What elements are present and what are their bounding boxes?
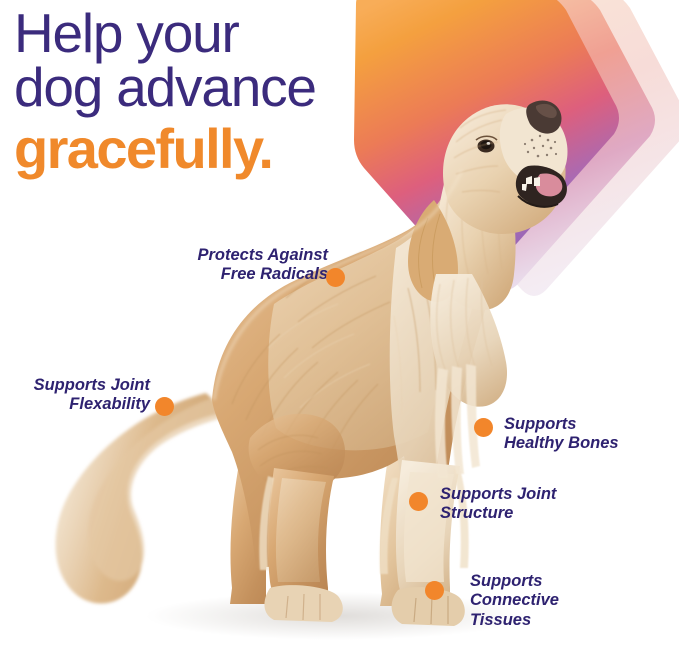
headline: Help your dog advance gracefully.	[14, 6, 444, 177]
headline-accent: gracefully.	[14, 121, 444, 177]
callout-free-radicals: Protects Against Free Radicals	[116, 246, 328, 285]
callout-label: Supports Joint Flexability	[0, 376, 150, 415]
callout-joint-flexability: Supports Joint Flexability	[0, 376, 150, 415]
callout-line-3: Tissues	[470, 611, 531, 629]
callout-line-2: Flexability	[69, 395, 150, 413]
callout-line-1: Protects Against	[197, 246, 328, 264]
callout-line-2: Structure	[440, 504, 513, 522]
callout-line-1: Supports Joint	[440, 485, 556, 503]
callout-label: Supports Joint Structure	[440, 485, 630, 524]
callout-dot-joint-flexability	[155, 397, 174, 416]
callout-label: Supports Healthy Bones	[504, 415, 679, 454]
callout-dot-free-radicals	[326, 268, 345, 287]
callout-line-1: Supports	[470, 572, 542, 590]
callout-label: Supports Connective Tissues	[470, 572, 640, 630]
callout-healthy-bones: Supports Healthy Bones	[504, 415, 679, 454]
callout-joint-structure: Supports Joint Structure	[440, 485, 630, 524]
callout-line-1: Supports Joint	[34, 376, 150, 394]
callout-line-2: Healthy Bones	[504, 434, 619, 452]
callout-line-2: Free Radicals	[221, 265, 328, 283]
callout-dot-healthy-bones	[474, 418, 493, 437]
callout-label: Protects Against Free Radicals	[116, 246, 328, 285]
callout-dot-connective-tissues	[425, 581, 444, 600]
callout-line-2: Connective	[470, 591, 559, 609]
promo-banner: Help your dog advance gracefully. Protec…	[0, 0, 679, 658]
headline-line-2: dog advance	[14, 60, 444, 114]
callout-line-1: Supports	[504, 415, 576, 433]
callout-dot-joint-structure	[409, 492, 428, 511]
callout-connective-tissues: Supports Connective Tissues	[470, 572, 640, 630]
headline-line-1: Help your	[14, 6, 444, 60]
